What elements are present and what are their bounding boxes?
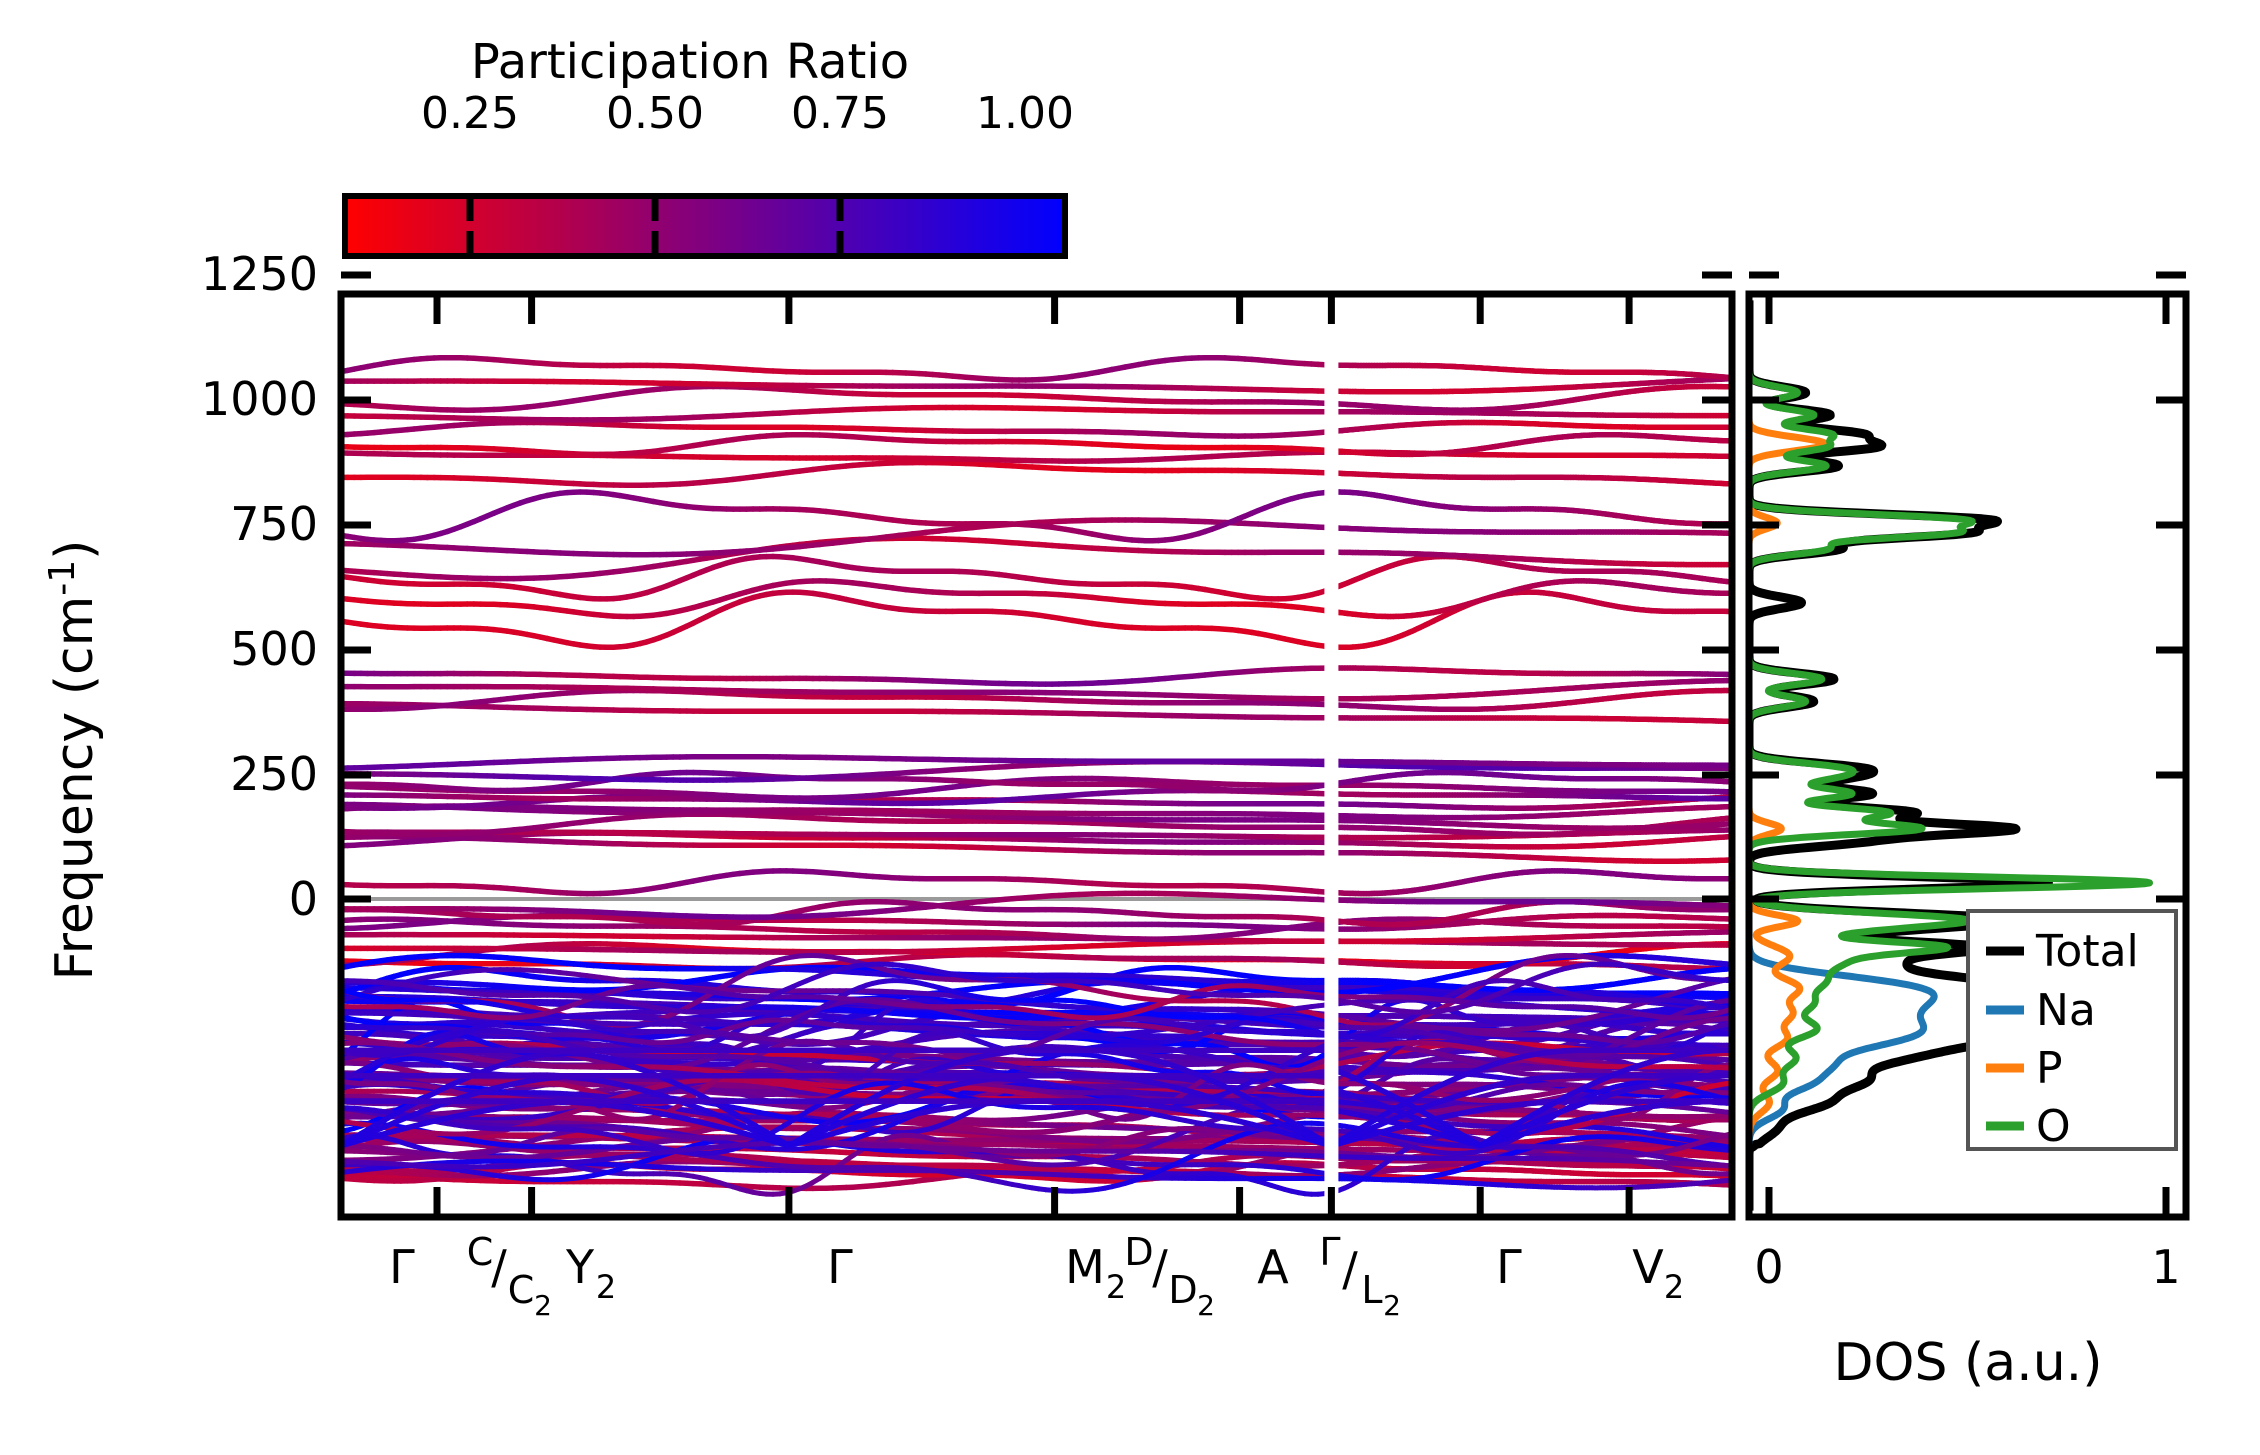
y-axis-label: Frequency (cm-1) <box>42 540 105 981</box>
colorbar-tick-3: 1.00 <box>976 88 1074 139</box>
colorbar-gradient <box>345 196 1065 256</box>
y-axis-label-group: Frequency (cm-1) <box>42 540 105 981</box>
y-tick-1250: 1250 <box>201 247 318 301</box>
y-tick-1000: 1000 <box>201 372 318 426</box>
colorbar-title: Participation Ratio <box>471 34 909 90</box>
y-tick-750: 750 <box>230 497 318 551</box>
phonon-figure: Participation Ratio 0.25 0.50 0.75 1.00 … <box>0 0 2260 1455</box>
colorbar-tick-1: 0.50 <box>606 88 704 139</box>
colorbar-tick-2: 0.75 <box>791 88 889 139</box>
y-tick-0: 0 <box>289 872 318 926</box>
y-tick-250: 250 <box>230 747 318 801</box>
y-tick-500: 500 <box>230 622 318 676</box>
colorbar-tick-0: 0.25 <box>421 88 519 139</box>
